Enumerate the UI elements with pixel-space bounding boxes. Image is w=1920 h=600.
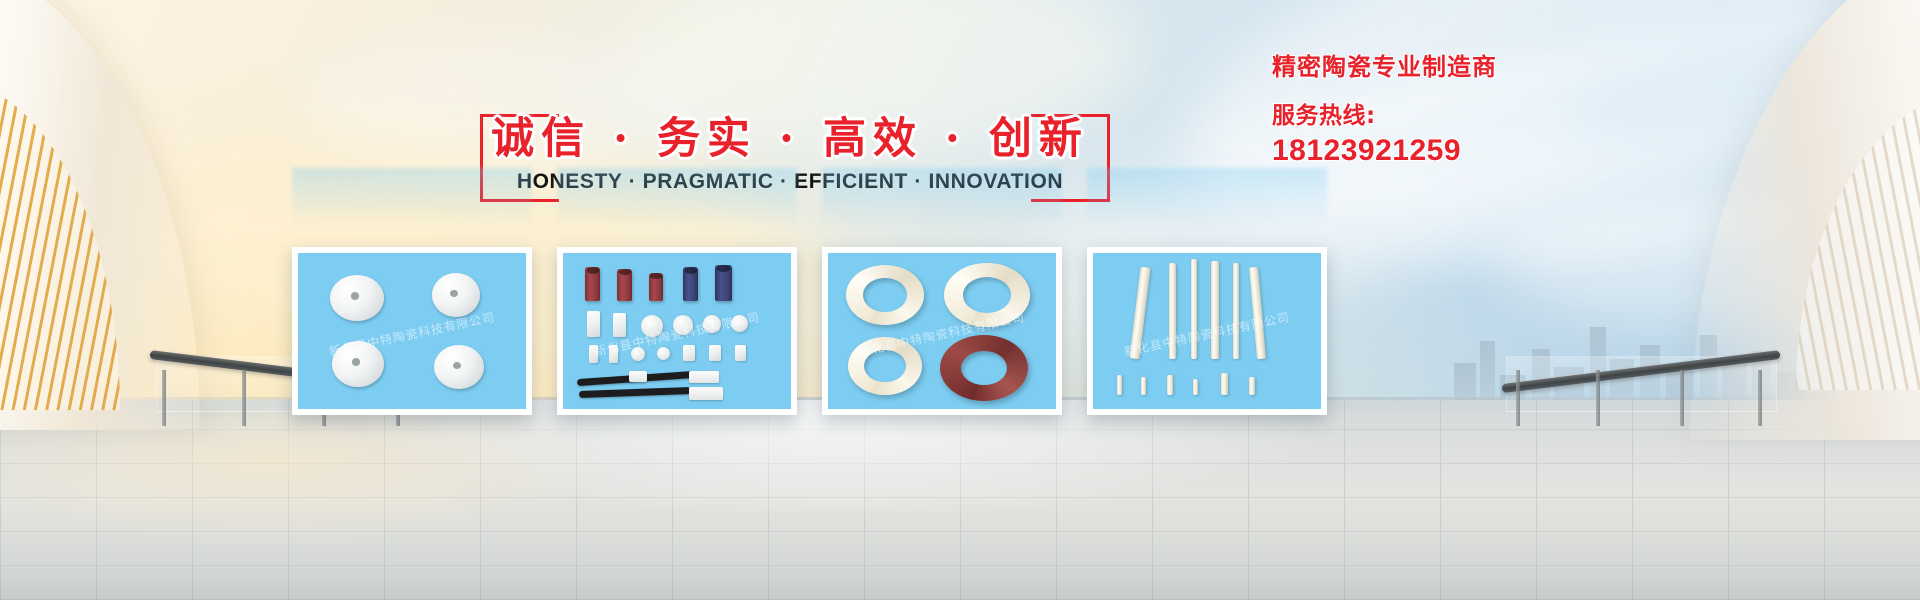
panel-image-rings: [828, 253, 1056, 409]
ceramic-rod: [1191, 259, 1197, 359]
ceramic-disc: [703, 315, 721, 333]
product-panel-ceramic-rings[interactable]: 新化县中特陶瓷科技有限公司: [822, 247, 1062, 415]
ceramic-rod-small: [1117, 375, 1122, 395]
wire-assembly: [579, 387, 691, 398]
ceramic-tube: [715, 265, 732, 301]
ceramic-plate: [609, 345, 618, 363]
ceramic-rod: [1233, 263, 1239, 359]
product-panel-ceramic-caps[interactable]: 新化县中特陶瓷科技有限公司: [292, 247, 532, 415]
ceramic-plate: [613, 313, 626, 337]
ceramic-rod: [1169, 263, 1176, 359]
ceramic-ring: [848, 337, 922, 395]
slogan-english: HONESTY · PRAGMATIC · EFFICIENT · INNOVA…: [480, 170, 1100, 194]
product-panel-strip: 新化县中特陶瓷科技有限公司: [292, 247, 1327, 415]
right-curved-structure: [1690, 0, 1920, 440]
ceramic-disc: [657, 347, 670, 360]
panel-image-rods: [1093, 253, 1321, 409]
panel-image-caps: [298, 253, 526, 409]
hotline-phone-number[interactable]: 18123921259: [1272, 134, 1602, 168]
ceramic-tube: [649, 273, 663, 301]
ceramic-plate: [709, 345, 721, 361]
left-structure-ribs: [0, 80, 120, 410]
panel-image-tubes: [563, 253, 791, 409]
company-tagline: 精密陶瓷专业制造商: [1272, 52, 1602, 82]
railing-bar: [1502, 350, 1781, 393]
hero-banner: 诚信 · 务实 · 高效 · 创新 HONESTY · PRAGMATIC · …: [0, 0, 1920, 600]
ceramic-tube: [617, 269, 632, 301]
ceramic-tube: [585, 267, 600, 301]
contact-block: 精密陶瓷专业制造商 服务热线: 18123921259: [1272, 52, 1602, 168]
ceramic-rod-small: [1167, 375, 1173, 395]
cloud-streak: [1381, 192, 1919, 274]
ceramic-ring-dark: [940, 335, 1028, 401]
slogan-block: 诚信 · 务实 · 高效 · 创新 HONESTY · PRAGMATIC · …: [480, 108, 1100, 204]
product-panel-ceramic-rods[interactable]: 新化县中特陶瓷科技有限公司: [1087, 247, 1327, 415]
ceramic-plate: [683, 345, 695, 361]
ceramic-ring: [944, 263, 1030, 327]
ceramic-rod: [1129, 267, 1150, 360]
cloud-shape: [1500, 180, 1920, 330]
panel-reflection: [1087, 168, 1327, 226]
ceramic-plate: [587, 311, 600, 337]
ceramic-disc: [631, 347, 645, 361]
ceramic-cap: [330, 275, 384, 321]
ceramic-plate: [735, 345, 746, 361]
ceramic-tube: [683, 267, 698, 301]
plaza-ground: [0, 400, 1920, 600]
ceramic-cap: [332, 341, 384, 387]
ceramic-rod: [1249, 267, 1266, 359]
ceramic-disc: [731, 315, 748, 332]
left-curved-structure: [0, 0, 200, 430]
right-structure-ribs: [1796, 90, 1920, 390]
ceramic-rod-small: [1249, 377, 1255, 395]
product-panel-ceramic-tubes[interactable]: 新化县中特陶瓷科技有限公司: [557, 247, 797, 415]
ceramic-rod-small: [1221, 373, 1228, 395]
ceramic-plate: [589, 345, 598, 363]
slogan-chinese: 诚信 · 务实 · 高效 · 创新: [480, 104, 1100, 166]
ceramic-ring: [846, 265, 924, 325]
wire-connector: [689, 387, 723, 400]
wire-connector: [629, 371, 647, 382]
ceramic-cap: [434, 345, 484, 389]
ceramic-disc: [673, 315, 693, 335]
ceramic-cap: [432, 273, 480, 317]
ceramic-rod-small: [1193, 379, 1198, 395]
ceramic-ring-small: [641, 315, 663, 337]
ceramic-rod-small: [1141, 377, 1146, 395]
wire-connector: [689, 371, 719, 383]
hotline-label: 服务热线:: [1272, 96, 1602, 130]
ceramic-rod: [1211, 261, 1219, 359]
